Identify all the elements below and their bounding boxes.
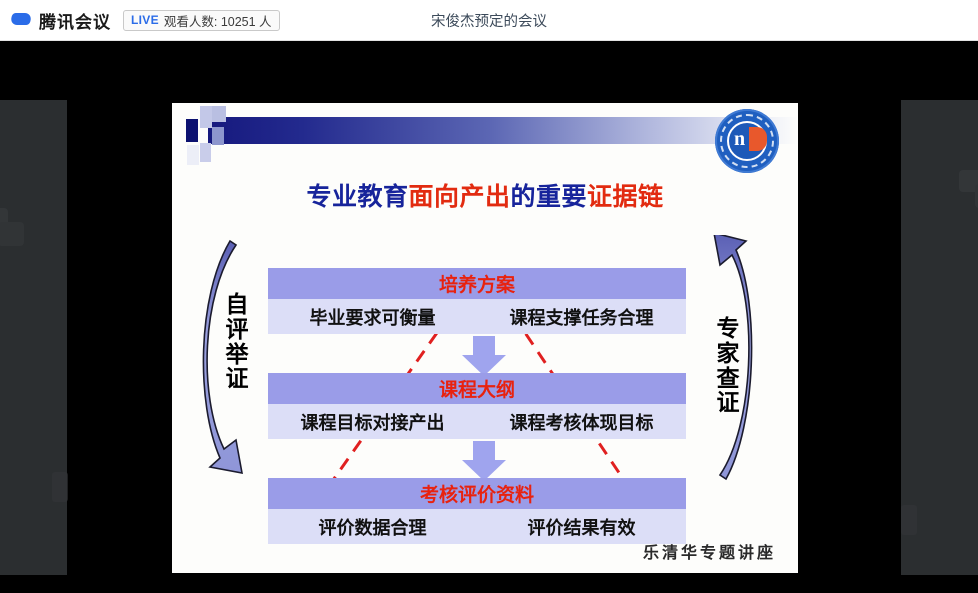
viewer-count-text: 观看人数: 10251 人	[164, 11, 272, 30]
chain-box-3-right-item: 评价结果有效	[477, 514, 686, 540]
left-arrow-label: 自 评 举 证	[220, 293, 254, 392]
brand-block: 腾讯会议	[10, 8, 111, 33]
tencent-meeting-logo-icon	[10, 10, 32, 30]
chain-box-1-body: 毕业要求可衡量 课程支撑任务合理	[268, 299, 686, 334]
brand-name: 腾讯会议	[39, 8, 111, 33]
chain-box-3-left-item: 评价数据合理	[268, 514, 477, 540]
down-arrow-icon-1	[462, 336, 506, 376]
chain-box-3-body: 评价数据合理 评价结果有效	[268, 509, 686, 544]
down-arrow-icon-2	[462, 441, 506, 481]
slide-title: 专业教育面向产出的重要证据链	[172, 177, 798, 213]
chain-box-3[interactable]: 考核评价资料 评价数据合理 评价结果有效	[268, 478, 686, 544]
participant-tile-right[interactable]	[901, 100, 978, 575]
deco-square-lavender	[200, 143, 211, 162]
left-label-char-2: 评	[220, 318, 254, 343]
slide-signature: 乐清华专题讲座	[643, 539, 776, 563]
shared-slide[interactable]: n 专业教育面向产出的重要证据链 培养方案 毕业要求可衡量 课程支撑任务合理	[172, 103, 798, 573]
university-logo-icon: n	[709, 103, 787, 179]
right-label-char-1: 专	[711, 317, 745, 342]
chain-box-2[interactable]: 课程大纲 课程目标对接产出 课程考核体现目标	[268, 373, 686, 439]
left-label-char-3: 举	[220, 343, 254, 368]
left-label-char-1: 自	[220, 293, 254, 318]
title-part-3: 的重要	[511, 182, 588, 211]
live-viewer-badge: LIVE 观看人数: 10251 人	[123, 10, 280, 31]
right-label-char-4: 证	[711, 391, 745, 416]
title-part-1: 专业教育	[306, 182, 408, 211]
right-label-char-3: 查	[711, 367, 745, 392]
deco-square-lavender	[212, 106, 226, 122]
chain-box-2-right-item: 课程考核体现目标	[477, 409, 686, 435]
deco-square-lavender	[187, 145, 199, 165]
deco-square-lavender	[212, 127, 224, 145]
chain-box-1-heading: 培养方案	[268, 268, 686, 299]
meeting-window: 腾讯会议 LIVE 观看人数: 10251 人 宋俊杰预定的会议	[0, 0, 978, 593]
chain-box-2-body: 课程目标对接产出 课程考核体现目标	[268, 404, 686, 439]
chain-box-2-left-item: 课程目标对接产出	[268, 409, 477, 435]
avatar-placeholder-icon	[0, 208, 28, 248]
video-stage: n 专业教育面向产出的重要证据链 培养方案 毕业要求可衡量 课程支撑任务合理	[0, 41, 978, 593]
live-label: LIVE	[131, 13, 159, 27]
title-part-2: 面向产出	[408, 182, 510, 211]
meeting-header-bar: 腾讯会议 LIVE 观看人数: 10251 人	[0, 0, 978, 41]
chain-box-3-heading: 考核评价资料	[268, 478, 686, 509]
title-part-4: 证据链	[587, 182, 664, 211]
chain-box-1-right-item: 课程支撑任务合理	[477, 304, 686, 330]
chain-box-1-left-item: 毕业要求可衡量	[268, 304, 477, 330]
deco-square-lavender	[200, 106, 212, 128]
right-label-char-2: 家	[711, 342, 745, 367]
deco-square-darkblue	[186, 119, 198, 142]
left-label-char-4: 证	[220, 367, 254, 392]
participant-tile-left[interactable]	[0, 100, 67, 575]
chain-box-2-heading: 课程大纲	[268, 373, 686, 404]
tile-marker	[901, 505, 917, 535]
tile-marker	[52, 472, 68, 502]
chain-box-1[interactable]: 培养方案 毕业要求可衡量 课程支撑任务合理	[268, 268, 686, 334]
avatar-placeholder-icon	[959, 170, 978, 210]
right-arrow-label: 专 家 查 证	[711, 317, 745, 416]
